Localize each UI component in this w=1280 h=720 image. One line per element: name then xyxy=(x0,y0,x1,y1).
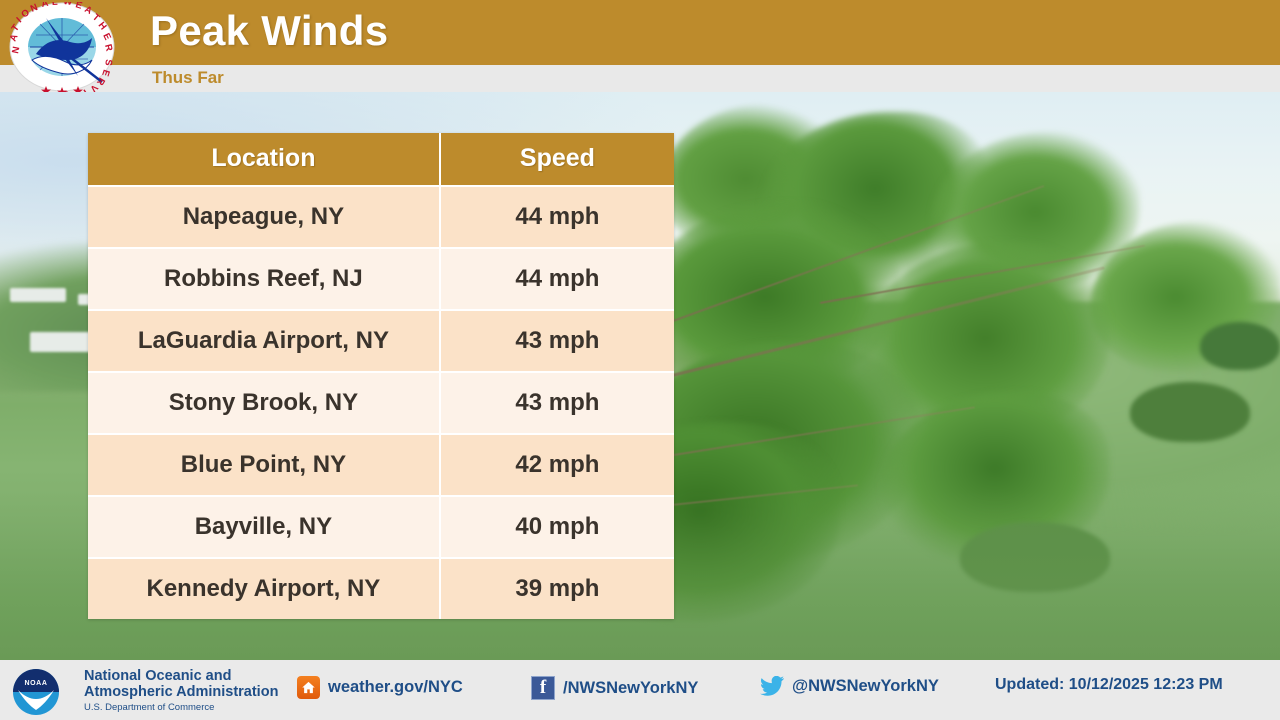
peak-winds-table: Location Speed Napeague, NY 44 mph Robbi… xyxy=(88,133,674,619)
cell-speed: 44 mph xyxy=(441,185,674,247)
weather-graphic: N A T I O N A L W E A T H E R S E R V I … xyxy=(0,0,1280,720)
column-header-speed: Speed xyxy=(441,133,674,185)
cell-speed: 40 mph xyxy=(441,495,674,557)
cell-speed: 44 mph xyxy=(441,247,674,309)
cell-speed: 42 mph xyxy=(441,433,674,495)
cell-speed: 43 mph xyxy=(441,371,674,433)
facebook-icon: f xyxy=(531,676,555,700)
agency-line-3: U.S. Department of Commerce xyxy=(84,703,278,714)
cell-speed: 43 mph xyxy=(441,309,674,371)
noaa-agency-name: National Oceanic and Atmospheric Adminis… xyxy=(84,668,278,714)
website-link[interactable]: weather.gov/NYC xyxy=(297,676,463,699)
cell-location: Blue Point, NY xyxy=(88,433,441,495)
table-body: Napeague, NY 44 mph Robbins Reef, NJ 44 … xyxy=(88,185,674,619)
cell-location: Robbins Reef, NJ xyxy=(88,247,441,309)
agency-line-2: Atmospheric Administration xyxy=(84,684,278,700)
table-row: Napeague, NY 44 mph xyxy=(88,185,674,247)
cell-location: Napeague, NY xyxy=(88,185,441,247)
table-row: Robbins Reef, NJ 44 mph xyxy=(88,247,674,309)
distant-building xyxy=(10,288,66,302)
svg-text:S: S xyxy=(102,59,114,66)
noaa-logo-text: NOAA xyxy=(24,680,47,687)
svg-text:I: I xyxy=(81,87,89,92)
twitter-label: @NWSNewYorkNY xyxy=(792,677,939,696)
svg-text:A: A xyxy=(40,2,49,10)
cell-speed: 39 mph xyxy=(441,557,674,619)
table-row: Blue Point, NY 42 mph xyxy=(88,433,674,495)
website-label: weather.gov/NYC xyxy=(328,678,463,697)
facebook-link[interactable]: f /NWSNewYorkNY xyxy=(531,676,698,700)
facebook-label: /NWSNewYorkNY xyxy=(563,679,698,698)
svg-text:L: L xyxy=(52,2,59,8)
cell-location: Kennedy Airport, NY xyxy=(88,557,441,619)
home-icon xyxy=(297,676,320,699)
table-header-row: Location Speed xyxy=(88,133,674,185)
table-row: Bayville, NY 40 mph xyxy=(88,495,674,557)
page-title: Peak Winds xyxy=(150,7,388,55)
distant-building xyxy=(30,332,94,352)
twitter-link[interactable]: @NWSNewYorkNY xyxy=(760,676,939,696)
table-row: Kennedy Airport, NY 39 mph xyxy=(88,557,674,619)
cell-location: Bayville, NY xyxy=(88,495,441,557)
updated-timestamp: Updated: 10/12/2025 12:23 PM xyxy=(995,676,1223,694)
table-row: LaGuardia Airport, NY 43 mph xyxy=(88,309,674,371)
column-header-location: Location xyxy=(88,133,441,185)
agency-line-1: National Oceanic and xyxy=(84,668,278,684)
cell-location: Stony Brook, NY xyxy=(88,371,441,433)
shrub xyxy=(1130,382,1250,442)
cell-location: LaGuardia Airport, NY xyxy=(88,309,441,371)
table-row: Stony Brook, NY 43 mph xyxy=(88,371,674,433)
shrub xyxy=(1200,322,1280,370)
page-subtitle: Thus Far xyxy=(152,68,224,88)
national-weather-service-logo: N A T I O N A L W E A T H E R S E R V I … xyxy=(6,2,118,92)
twitter-icon xyxy=(760,676,784,696)
svg-text:W: W xyxy=(63,2,73,8)
noaa-logo: NOAA xyxy=(10,666,62,716)
